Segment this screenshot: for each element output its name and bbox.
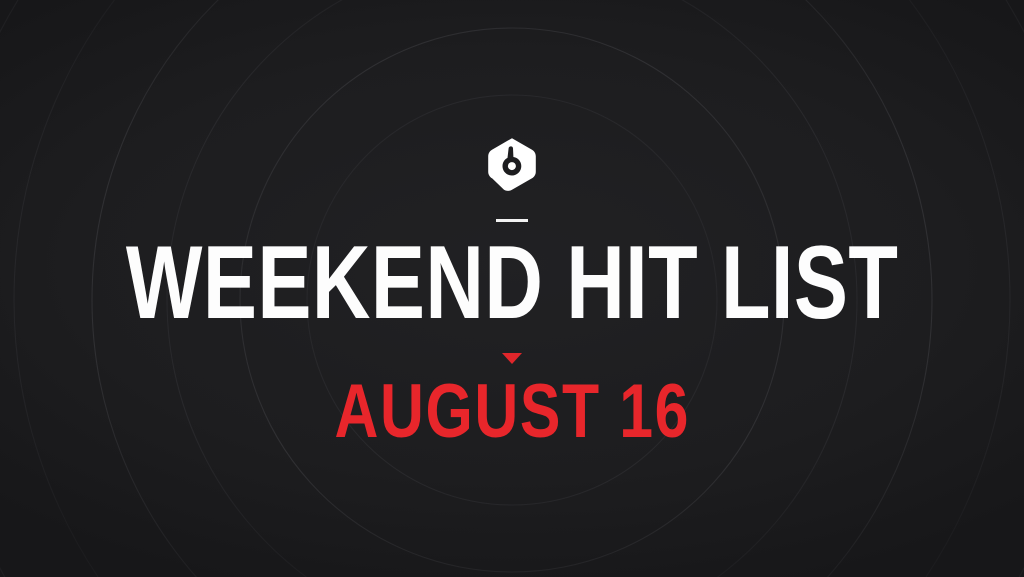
poster-content-stack: WEEKEND HIT LIST AUGUST 16 xyxy=(0,0,1024,577)
horizontal-rule-divider xyxy=(496,219,528,222)
triangle-down-icon xyxy=(502,353,522,364)
beats-hexagon-logo-icon xyxy=(486,137,538,191)
date-label: AUGUST 16 xyxy=(334,380,690,444)
page-title: WEEKEND HIT LIST xyxy=(126,240,898,327)
weekend-hit-list-poster: WEEKEND HIT LIST AUGUST 16 xyxy=(0,0,1024,577)
